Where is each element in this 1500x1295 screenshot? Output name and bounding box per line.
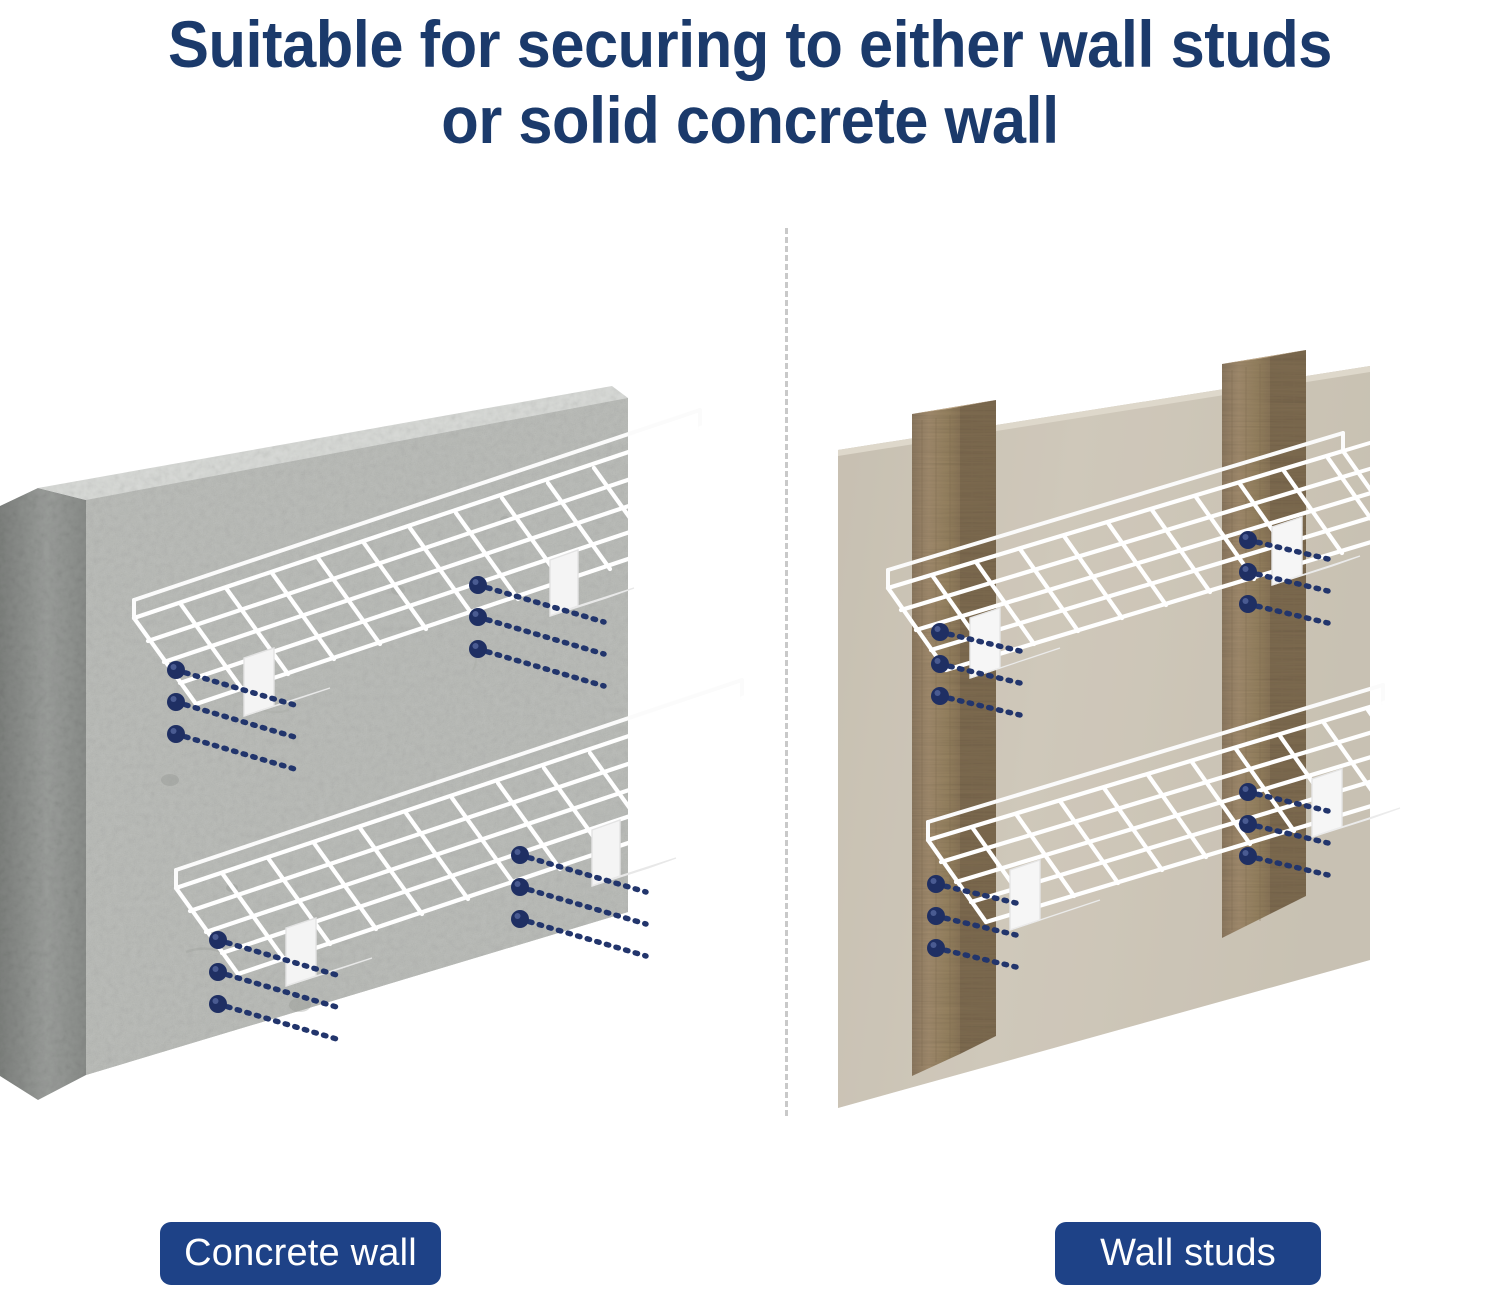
badge-concrete-wall: Concrete wall [160,1222,441,1285]
concrete-wall-group [0,378,967,1100]
wall-stud-left [912,400,996,1076]
illustration-area [0,170,1500,1180]
concrete-slab-edge [0,488,86,1100]
page-title-line-2: or solid concrete wall [53,82,1448,158]
badge-wall-studs: Wall studs [1055,1222,1321,1285]
wall-stud-right [1222,350,1306,938]
mounting-illustration [0,170,1500,1180]
panel-divider [785,228,788,1116]
wall-studs-group [838,350,1500,1108]
page-title: Suitable for securing to either wall stu… [0,0,1500,158]
page-title-line-1: Suitable for securing to either wall stu… [53,6,1448,82]
concrete-slab-face-blotches [86,398,628,1075]
